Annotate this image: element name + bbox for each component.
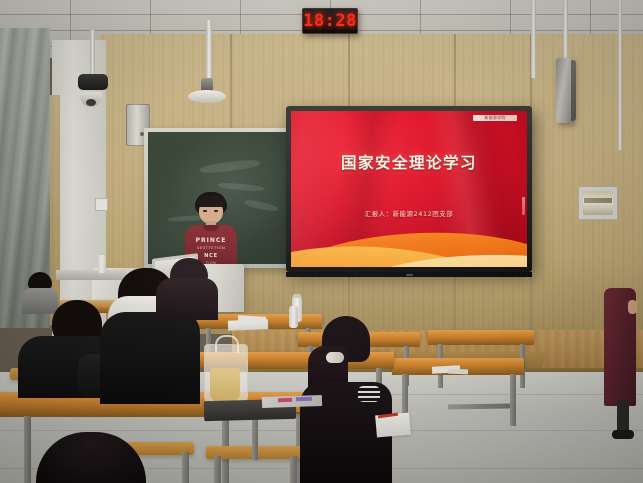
screen-brand-logo: [406, 274, 413, 276]
student-bottom-left: [36, 432, 146, 483]
camera-lens-icon: [86, 99, 96, 106]
ceiling-mounted-light: [188, 90, 226, 103]
slide-corner-badge: 新能源学院: [473, 115, 517, 121]
led-presentation-screen[interactable]: 新能源学院 国家安全理论学习 汇报人：新能源2412团支部: [286, 106, 532, 272]
standing-person-hand: [628, 300, 637, 314]
wall-speaker-side: [571, 60, 576, 121]
ceiling-projector: [78, 74, 108, 90]
papers-on-desk-2: [238, 315, 266, 323]
framed-notice-text: [584, 198, 612, 203]
presenter-fringe: [196, 196, 226, 207]
water-bottle-right: [289, 306, 298, 328]
plastic-bag-with-drink: [204, 344, 246, 404]
milk-tea-drink: [210, 368, 240, 402]
light-mount-pole: [206, 20, 212, 82]
hair-scrunchie: [326, 352, 344, 363]
student-back-row: [156, 258, 220, 320]
shirt-text-line-1: PRINCE: [183, 237, 239, 244]
slide-title: 国家安全理论学习: [291, 151, 527, 173]
light-switch[interactable]: [95, 198, 108, 211]
slide-gold-wave-graphic: [291, 219, 527, 267]
slide-subtitle: 汇报人：新能源2412团支部: [291, 209, 527, 218]
standing-person-shoe: [612, 430, 634, 439]
framed-notice: [578, 186, 618, 220]
clock-time: 18:28: [303, 11, 357, 31]
projector-mount-pole: [90, 30, 95, 78]
magazine-accent-purple: [296, 397, 312, 402]
classroom-photo: 新能源学院 国家安全理论学习 汇报人：新能源2412团支部 18:28 PRI: [0, 0, 643, 483]
led-wall-clock: 18:28: [302, 8, 358, 34]
screen-side-indicator-icon: [522, 197, 525, 215]
paper-on-stage-2: [448, 369, 468, 375]
shirt-text-line-2: UESTTETION: [183, 246, 239, 250]
right-pole-3: [618, 0, 622, 150]
slide-canvas: 新能源学院 国家安全理论学习 汇报人：新能源2412团支部: [291, 111, 527, 267]
slide-corner-badge-text: 新能源学院: [473, 115, 517, 121]
water-bottle-cap: [293, 294, 301, 298]
striped-collar: [358, 386, 380, 402]
magazine-accent-pink: [278, 398, 292, 402]
right-pole-2: [563, 0, 568, 58]
right-pole-1: [531, 0, 536, 78]
